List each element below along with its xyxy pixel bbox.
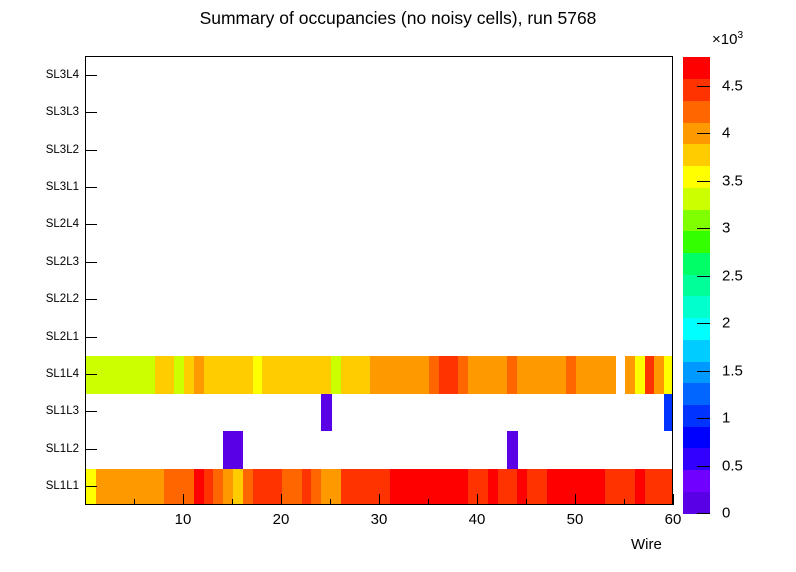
color-scale-band [683, 491, 710, 513]
x-axis-tick-label: 50 [567, 511, 584, 528]
color-scale-tick [697, 418, 710, 419]
heatmap-cell [664, 469, 673, 505]
y-axis-tick-label: SL2L1 [46, 331, 79, 343]
y-axis-tick-mark [85, 449, 97, 450]
y-axis-tick-mark [85, 374, 97, 375]
x-axis-tick-label: 40 [469, 511, 486, 528]
y-axis-tick-label: SL2L2 [46, 293, 79, 305]
x-axis-major-tick [477, 494, 478, 505]
root-canvas: Summary of occupancies (no noisy cells),… [0, 0, 796, 572]
color-scale-tick-label: 4.5 [722, 77, 743, 94]
x-axis-minor-tick [134, 499, 135, 505]
x-axis-major-tick [673, 494, 674, 505]
color-scale-band [683, 166, 710, 188]
color-scale-tick [697, 513, 710, 514]
color-scale-bar [683, 57, 710, 513]
color-scale-tick [697, 371, 710, 372]
color-scale-band [683, 252, 710, 274]
color-scale-tick [697, 276, 710, 277]
color-scale-tick-label: 1.5 [722, 362, 743, 379]
color-scale-tick-label: 3.5 [722, 172, 743, 189]
y-axis-labels: SL3L4SL3L3SL3L2SL3L1SL2L4SL2L3SL2L2SL2L1… [0, 56, 79, 505]
heatmap-cell [605, 356, 615, 393]
color-scale-band [683, 470, 710, 492]
y-axis-tick-mark [85, 337, 97, 338]
x-axis-title: Wire [631, 536, 662, 553]
heatmap-cell [664, 394, 673, 431]
y-axis-tick-mark [85, 262, 97, 263]
color-scale-band [683, 426, 710, 448]
x-axis-tick-label: 30 [371, 511, 388, 528]
heatmap-cell [664, 356, 673, 393]
plot-frame [85, 56, 673, 505]
color-scale-tick-label: 3 [722, 220, 730, 237]
x-axis-minor-tick [232, 499, 233, 505]
color-scale-band [683, 383, 710, 405]
y-axis-tick-mark [85, 150, 97, 151]
x-axis-minor-tick [624, 499, 625, 505]
heatmap-cell [507, 431, 517, 468]
color-scale-band [683, 57, 710, 79]
color-scale-band [683, 79, 710, 101]
x-axis-tick-label: 60 [665, 511, 682, 528]
color-scale-tick-label: 0.5 [722, 457, 743, 474]
y-axis-tick-label: SL1L4 [46, 368, 79, 380]
y-axis-tick-label: SL3L1 [46, 181, 79, 193]
x-axis-minor-tick [526, 499, 527, 505]
color-scale-band [683, 339, 710, 361]
exponent-mantissa: ×10 [712, 31, 737, 48]
heatmap-layer [86, 57, 672, 504]
y-axis-tick-label: SL2L4 [46, 218, 79, 230]
color-scale-band [683, 274, 710, 296]
x-axis-major-tick [575, 494, 576, 505]
y-axis-tick-label: SL1L2 [46, 443, 79, 455]
color-scale-band [683, 296, 710, 318]
heatmap-cell [321, 394, 331, 431]
y-axis-tick-mark [85, 112, 97, 113]
color-scale-band [683, 231, 710, 253]
x-axis-tick-label: 20 [273, 511, 290, 528]
y-axis-tick-label: SL3L3 [46, 106, 79, 118]
color-scale-tick [697, 466, 710, 467]
y-axis-tick-mark [85, 224, 97, 225]
x-axis-major-tick [379, 494, 380, 505]
page-title: Summary of occupancies (no noisy cells),… [0, 8, 796, 29]
color-scale-band [683, 361, 710, 383]
color-scale-tick-label: 4 [722, 125, 730, 142]
y-axis-tick-label: SL1L1 [46, 480, 79, 492]
color-scale-tick [697, 323, 710, 324]
color-scale-band [683, 404, 710, 426]
y-axis-tick-label: SL3L2 [46, 144, 79, 156]
y-axis-tick-label: SL2L3 [46, 256, 79, 268]
y-axis-tick-mark [85, 486, 97, 487]
y-axis-tick-label: SL1L3 [46, 405, 79, 417]
x-axis-minor-tick [428, 499, 429, 505]
color-scale-tick-label: 0 [722, 505, 730, 522]
color-scale-band [683, 144, 710, 166]
x-axis-tick-label: 10 [175, 511, 192, 528]
y-axis-tick-mark [85, 299, 97, 300]
color-scale-tick-label: 2 [722, 315, 730, 332]
y-axis-tick-label: SL3L4 [46, 69, 79, 81]
color-scale-tick-label: 2.5 [722, 267, 743, 284]
x-axis-minor-tick [330, 499, 331, 505]
color-scale-tick-label: 1 [722, 410, 730, 427]
color-scale-band [683, 100, 710, 122]
color-scale-tick [697, 228, 710, 229]
x-axis-major-tick [281, 494, 282, 505]
exponent-power: 3 [737, 30, 743, 41]
color-scale-tick [697, 133, 710, 134]
color-scale-band [683, 318, 710, 340]
color-scale-band [683, 448, 710, 470]
color-scale-exponent: ×103 [712, 30, 743, 48]
heatmap-cell [233, 431, 243, 468]
y-axis-tick-mark [85, 187, 97, 188]
y-axis-tick-mark [85, 75, 97, 76]
y-axis-tick-mark [85, 411, 97, 412]
color-scale-band [683, 187, 710, 209]
x-axis-major-tick [183, 494, 184, 505]
color-scale-tick [697, 181, 710, 182]
color-scale-tick [697, 86, 710, 87]
